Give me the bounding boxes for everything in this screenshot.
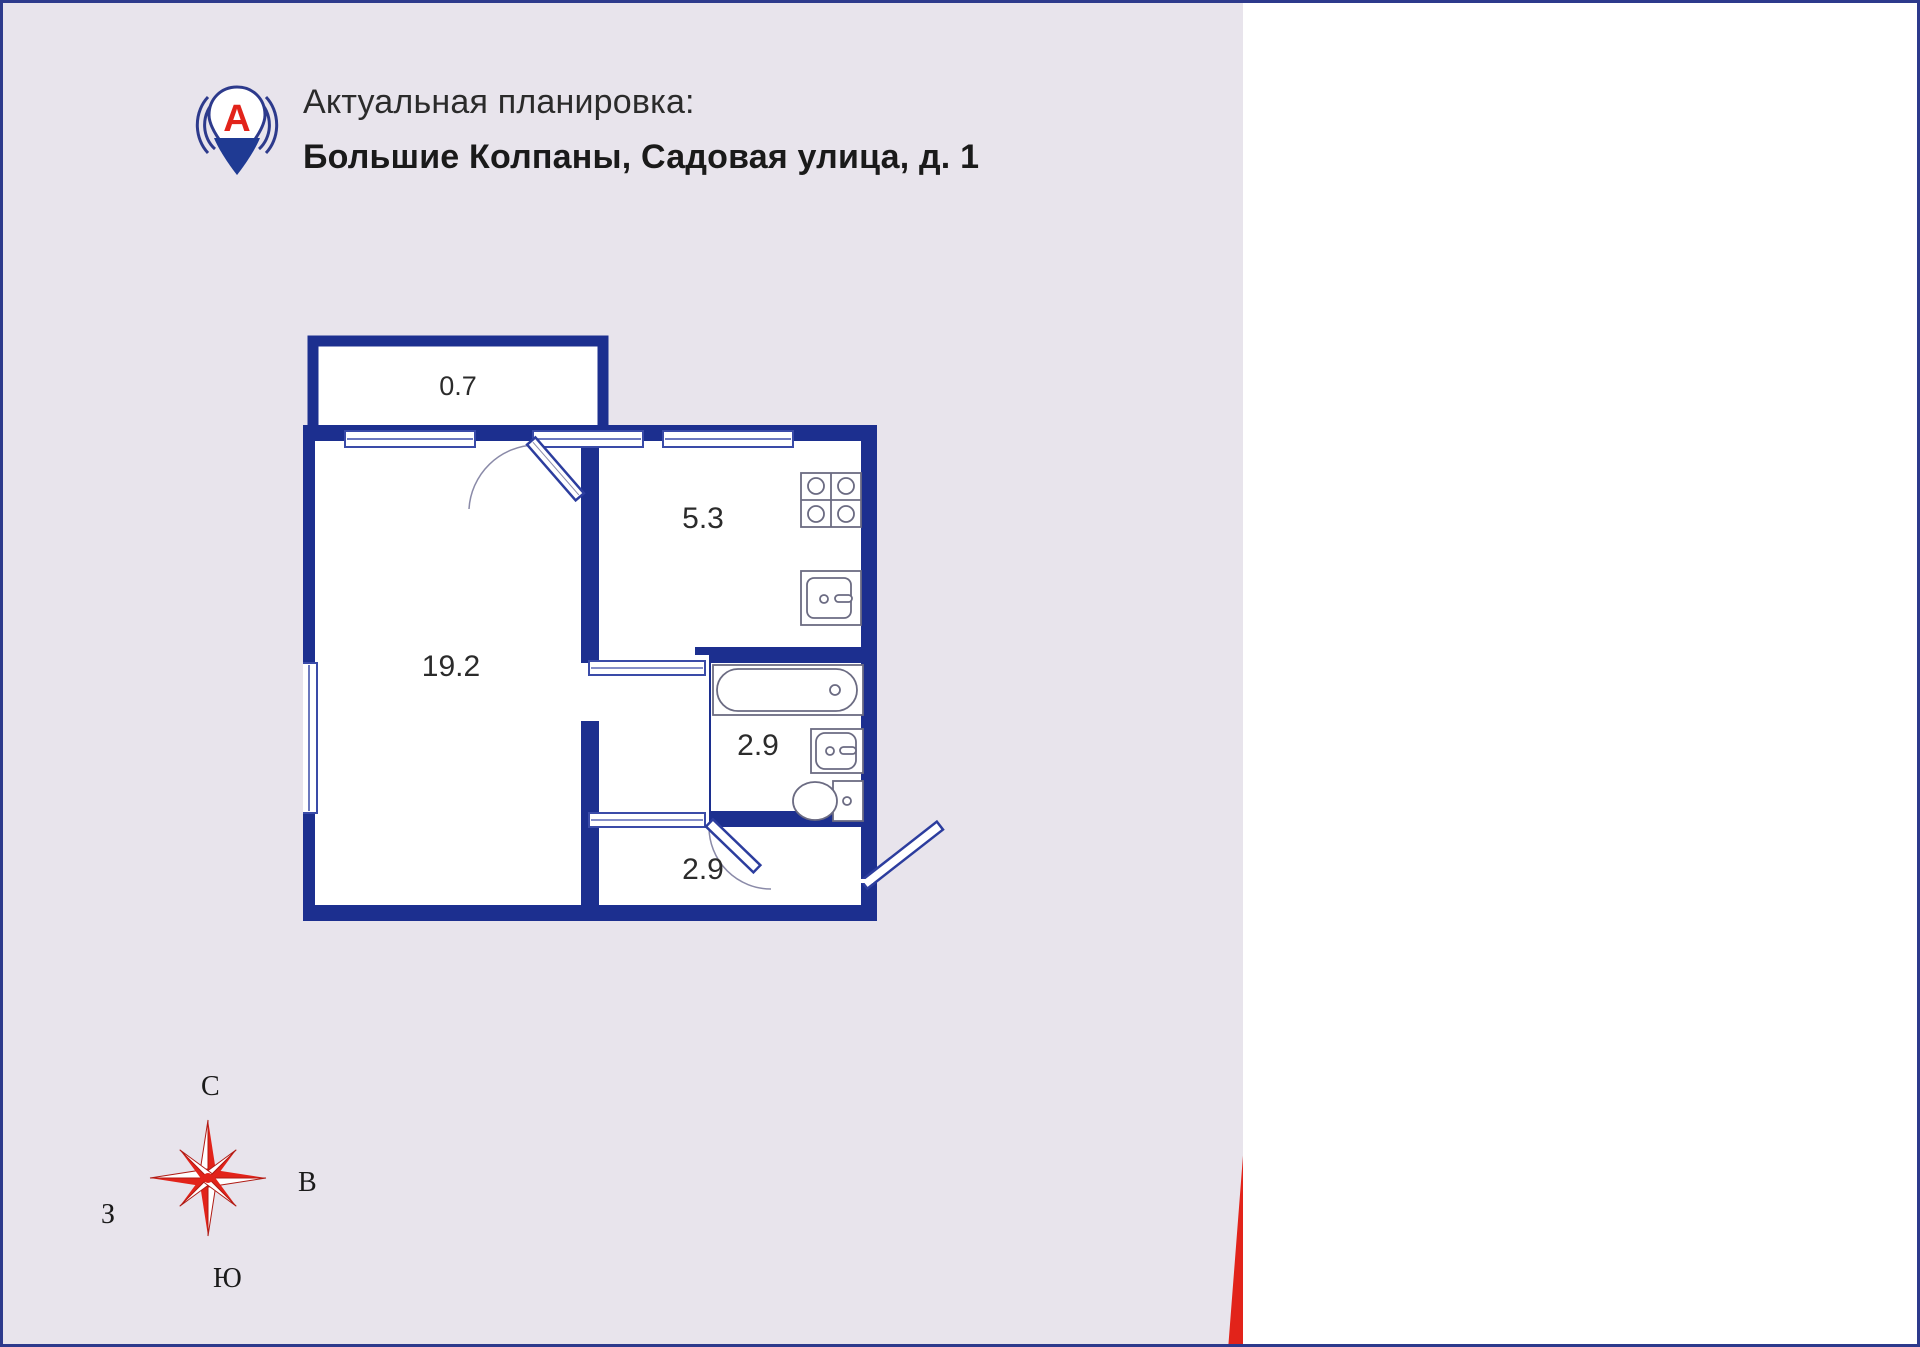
window-kitchen: [663, 431, 793, 447]
area-label-kitchen: 5.3: [682, 502, 724, 535]
area-label-balcony: 0.7: [439, 371, 477, 401]
area-label-bathroom: 2.9: [737, 729, 779, 762]
area-label-hallway: 2.9: [682, 853, 724, 886]
map-pin-icon: A: [195, 83, 279, 185]
compass-south-label: Ю: [213, 1263, 242, 1295]
washbasin-icon: [811, 729, 863, 773]
bathtub-icon: [713, 665, 863, 715]
compass-west-label: З: [101, 1199, 115, 1231]
area-label-living-room: 19.2: [422, 650, 480, 683]
window-living-top-2: [533, 431, 643, 447]
opening-hall-doorway: [589, 813, 705, 827]
compass-rose: С В З Ю: [93, 1063, 323, 1293]
window-living-top: [345, 431, 475, 447]
compass-east-label: В: [298, 1167, 317, 1199]
svg-text:A: A: [223, 98, 250, 140]
page-caption: Актуальная планировка:: [303, 83, 1163, 122]
floorplan-drawing: 0.7 19.2 5.3 2.9 2.9: [303, 333, 1043, 1073]
toilet-icon: [793, 781, 863, 821]
floorplan-page: A Актуальная планировка: Большие Колпаны…: [0, 0, 1920, 1347]
header: A Актуальная планировка: Большие Колпаны…: [3, 3, 1293, 213]
compass-north-label: С: [201, 1071, 220, 1103]
stove-icon: [801, 473, 861, 527]
info-panel: Александр недвижимость Комнат 1 Этаж 4/5…: [1243, 3, 1920, 1347]
opening-living-corridor: [589, 661, 705, 675]
window-living-left: [303, 663, 317, 813]
title-block: Актуальная планировка: Большие Колпаны, …: [303, 83, 1163, 177]
kitchen-sink-icon: [801, 571, 861, 625]
page-title: Большие Колпаны, Садовая улица, д. 1: [303, 138, 1163, 177]
